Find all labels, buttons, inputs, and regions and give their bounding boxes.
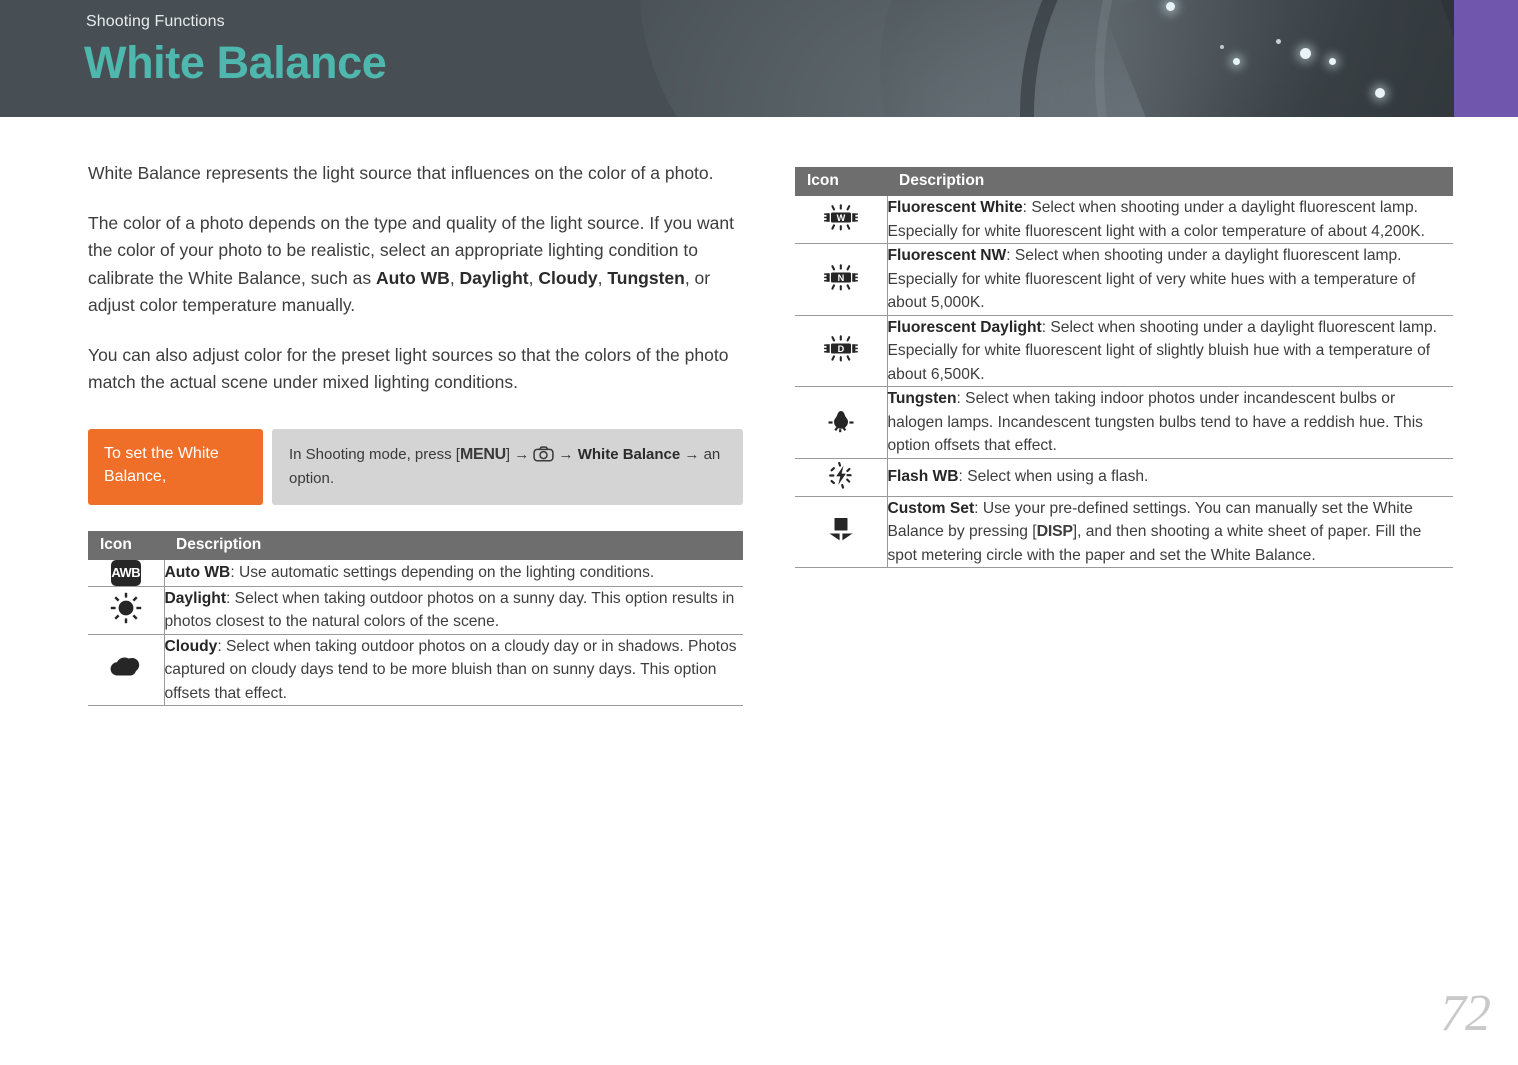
arrow-glyph: → [559, 446, 574, 463]
header-sparkle-dot [1375, 88, 1385, 98]
svg-text:N: N [837, 273, 844, 283]
right-column: Icon Description WFluorescent White: Sel… [795, 167, 1453, 568]
intro-paragraph-1: White Balance represents the light sourc… [88, 160, 743, 188]
option-description: : Select when using a flash. [959, 468, 1149, 485]
header-sparkle-dot [1329, 58, 1336, 65]
table-row: Custom Set: Use your pre-defined setting… [795, 496, 1453, 568]
table-row: AWBAuto WB: Use automatic settings depen… [88, 560, 743, 587]
option-name: Fluorescent White [888, 199, 1023, 216]
intro-paragraph-3: You can also adjust color for the preset… [88, 342, 743, 397]
table-row: DFluorescent Daylight: Select when shoot… [795, 315, 1453, 387]
paragraph-text: , [529, 268, 539, 288]
cell-icon [88, 634, 164, 706]
header-sparkle-dot [1220, 45, 1224, 49]
column-header-icon: Icon [88, 531, 164, 560]
table-row: Flash WB: Select when using a flash. [795, 458, 1453, 496]
cell-description: Fluorescent Daylight: Select when shooti… [887, 315, 1453, 387]
header-sparkle-dot [1276, 39, 1281, 44]
option-name: Custom Set [888, 500, 975, 517]
left-column: White Balance represents the light sourc… [88, 160, 743, 706]
cell-description: Custom Set: Use your pre-defined setting… [887, 496, 1453, 568]
paragraph-text: You can also adjust color for the preset… [88, 345, 728, 393]
table-row: Cloudy: Select when taking outdoor photo… [88, 634, 743, 706]
cell-description: Cloudy: Select when taking outdoor photo… [164, 634, 743, 706]
fluorescent-white-icon: W [819, 202, 863, 232]
cell-icon [88, 586, 164, 634]
cloud-icon [107, 653, 145, 681]
option-name: Fluorescent NW [888, 247, 1007, 264]
header-sparkle-dot [1300, 48, 1311, 59]
table-header-row: Icon Description [88, 531, 743, 560]
option-name: Auto WB [165, 564, 231, 581]
tungsten-icon [824, 404, 858, 436]
instruction-text: In Shooting mode, press [ [289, 446, 460, 463]
emphasised-term: Daylight [460, 268, 529, 288]
callout-tag-label: To set the White Balance, [88, 429, 263, 505]
menu-key-label: MENU [460, 446, 506, 463]
option-name: Flash WB [888, 468, 959, 485]
cell-icon [795, 458, 887, 496]
instruction-text: ] [506, 446, 514, 463]
option-description: : Use automatic settings depending on th… [230, 564, 654, 581]
paragraph-text: , [598, 268, 608, 288]
option-name: Daylight [165, 590, 227, 607]
option-description: : Select when taking indoor photos under… [888, 390, 1423, 454]
cell-icon [795, 387, 887, 459]
emphasised-term: Tungsten [607, 268, 684, 288]
column-header-description: Description [164, 531, 743, 560]
fluorescent-daylight-icon: D [819, 333, 863, 363]
table-row: WFluorescent White: Select when shooting… [795, 196, 1453, 244]
intro-paragraph-2: The color of a photo depends on the type… [88, 210, 743, 320]
emphasised-term: Auto WB [376, 268, 450, 288]
svg-text:D: D [837, 344, 844, 354]
column-header-icon: Icon [795, 167, 887, 196]
custom-set-icon [825, 514, 857, 544]
header-accent-strip [1454, 0, 1518, 117]
table-row: Tungsten: Select when taking indoor phot… [795, 387, 1453, 459]
cell-icon [795, 496, 887, 568]
callout-instruction: In Shooting mode, press [MENU] → → White… [272, 429, 743, 505]
cell-description: Fluorescent NW: Select when shooting und… [887, 244, 1453, 316]
cell-icon: D [795, 315, 887, 387]
cell-description: Tungsten: Select when taking indoor phot… [887, 387, 1453, 459]
breadcrumb-section-label: Shooting Functions [86, 13, 225, 31]
cell-description: Daylight: Select when taking outdoor pho… [164, 586, 743, 634]
option-description: : Select when taking outdoor photos on a… [165, 638, 737, 702]
paragraph-text: , [450, 268, 460, 288]
page-number: 72 [1440, 984, 1490, 1043]
column-header-description: Description [887, 167, 1453, 196]
emphasised-term: Cloudy [538, 268, 597, 288]
table-header-row: Icon Description [795, 167, 1453, 196]
flash-wb-icon [824, 459, 858, 491]
svg-text:W: W [836, 213, 845, 223]
page-title: White Balance [84, 40, 386, 85]
cell-description: Auto WB: Use automatic settings dependin… [164, 560, 743, 587]
cell-icon: N [795, 244, 887, 316]
white-balance-options-table-left: Icon Description AWBAuto WB: Use automat… [88, 531, 743, 707]
page-header: Shooting Functions White Balance [0, 0, 1518, 117]
arrow-glyph: → [684, 446, 699, 463]
menu-target-label: White Balance [578, 446, 681, 463]
camera-icon [533, 446, 554, 462]
header-sparkle-dot [1166, 2, 1175, 11]
cell-description: Flash WB: Select when using a flash. [887, 458, 1453, 496]
sun-icon [109, 591, 143, 625]
header-sparkle-dot [1233, 58, 1240, 65]
fluorescent-nw-icon: N [819, 262, 863, 292]
awb-icon: AWB [111, 560, 141, 586]
option-name: Fluorescent Daylight [888, 319, 1042, 336]
how-to-callout: To set the White Balance, In Shooting mo… [88, 429, 743, 505]
option-name: Tungsten [888, 390, 957, 407]
cell-icon: W [795, 196, 887, 244]
disp-key-label: DISP [1037, 523, 1073, 540]
paragraph-text: White Balance represents the light sourc… [88, 163, 714, 183]
table-row: Daylight: Select when taking outdoor pho… [88, 586, 743, 634]
arrow-glyph: → [514, 446, 529, 463]
option-name: Cloudy [165, 638, 218, 655]
cell-icon: AWB [88, 560, 164, 587]
cell-description: Fluorescent White: Select when shooting … [887, 196, 1453, 244]
white-balance-options-table-right: Icon Description WFluorescent White: Sel… [795, 167, 1453, 568]
table-row: NFluorescent NW: Select when shooting un… [795, 244, 1453, 316]
option-description: : Select when taking outdoor photos on a… [165, 590, 735, 631]
